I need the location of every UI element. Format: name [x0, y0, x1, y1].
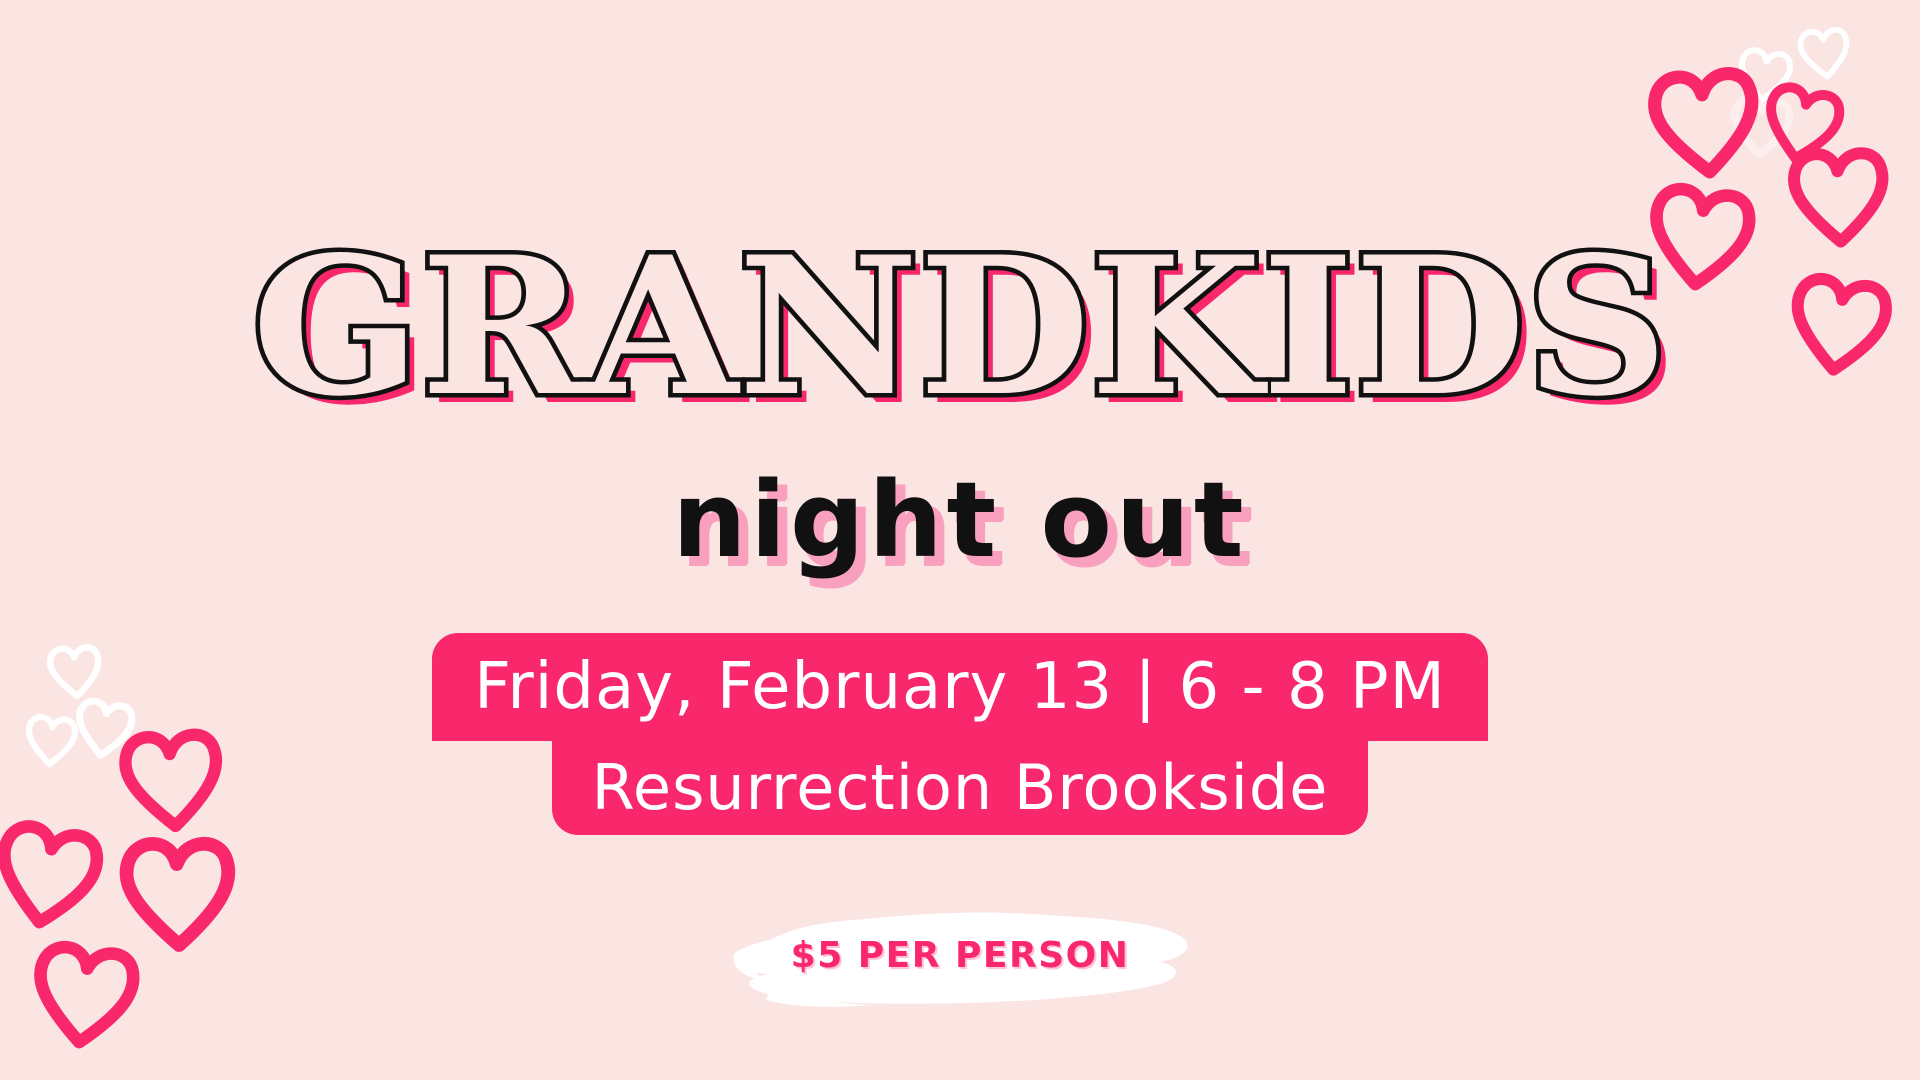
price-label: $5 PER PERSON	[791, 935, 1130, 976]
title-block: GRANDKIDS GRANDKIDS	[0, 236, 1920, 418]
heart-icon	[1799, 27, 1851, 80]
page-title-outline: GRANDKIDS	[252, 215, 1668, 438]
event-flyer: GRANDKIDS GRANDKIDS night out Friday, Fe…	[0, 0, 1920, 1080]
heart-icon	[1763, 84, 1843, 164]
event-info-banner: Friday, February 13 | 6 - 8 PM Resurrect…	[0, 633, 1920, 835]
heart-icon	[1651, 68, 1760, 177]
heart-icon	[1738, 49, 1791, 102]
event-datetime-row: Friday, February 13 | 6 - 8 PM	[432, 633, 1488, 741]
page-subtitle: night out	[672, 468, 1247, 572]
page-title: GRANDKIDS GRANDKIDS	[252, 236, 1668, 418]
subtitle-block: night out	[0, 468, 1920, 572]
heart-icon	[1732, 98, 1790, 157]
heart-icon	[1792, 150, 1887, 245]
event-venue-row: Resurrection Brookside	[552, 739, 1369, 835]
price-block: $5 PER PERSON	[0, 890, 1920, 1020]
